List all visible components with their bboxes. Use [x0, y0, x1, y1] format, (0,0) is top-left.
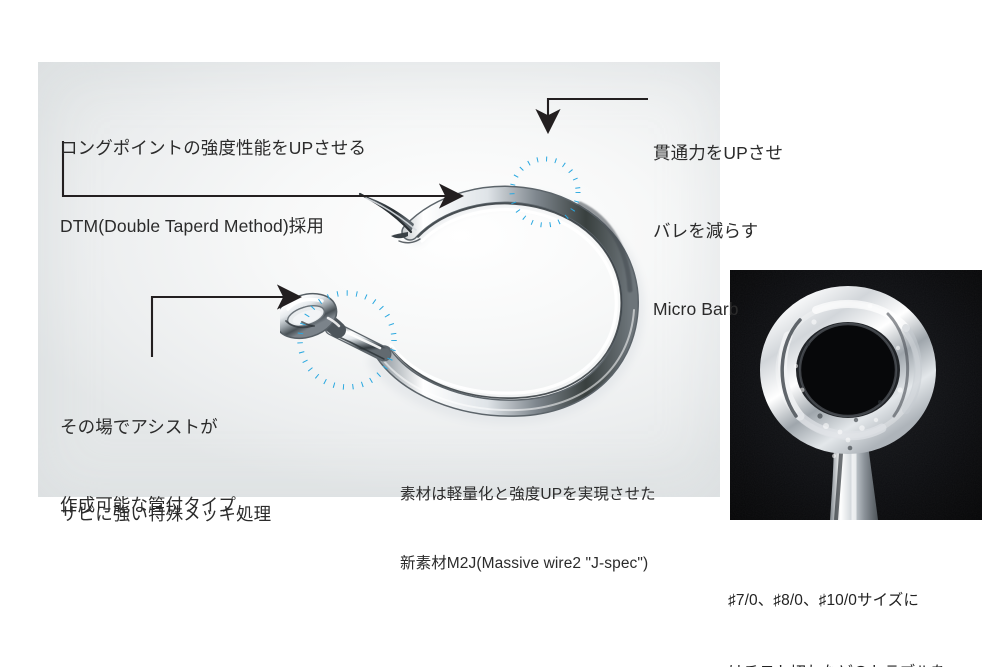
annotation-inset-caption: ♯7/0、♯8/0、♯10/0サイズに はチモト切れなどのトラブルを 防止するた…: [728, 541, 946, 667]
annotation-dtm-line1: ロングポイントの強度性能をUPさせる: [60, 135, 366, 161]
annotation-plating: サビに強い特殊メッキ処理: [60, 449, 271, 579]
annotation-micro-barb-line2: バレを減らす: [653, 218, 783, 244]
annotation-dtm: ロングポイントの強度性能をUPさせる DTM(Double Taperd Met…: [60, 83, 366, 291]
hook-bend: [380, 194, 634, 410]
annotation-material: 素材は軽量化と強度UPを実現させた 新素材M2J(Massive wire2 "…: [400, 437, 656, 621]
annotation-inset-caption-line1: ♯7/0、♯8/0、♯10/0サイズに: [728, 589, 946, 613]
annotation-dtm-line2: DTM(Double Taperd Method)採用: [60, 213, 366, 239]
annotation-micro-barb-line3: Micro Barb: [653, 296, 783, 322]
annotation-plating-line1: サビに強い特殊メッキ処理: [60, 501, 271, 527]
product-feature-diagram: ロングポイントの強度性能をUPさせる DTM(Double Taperd Met…: [0, 0, 1000, 667]
annotation-inset-caption-line2: はチモト切れなどのトラブルを: [728, 661, 946, 667]
annotation-micro-barb-line1: 貫通力をUPさせ: [653, 140, 783, 166]
annotation-material-line2: 新素材M2J(Massive wire2 "J-spec"): [400, 552, 656, 575]
annotation-assist-line1: その場でアシストが: [60, 414, 236, 440]
annotation-micro-barb: 貫通力をUPさせ バレを減らす Micro Barb: [653, 88, 783, 374]
annotation-material-line1: 素材は軽量化と強度UPを実現させた: [400, 483, 656, 506]
hook-ringed-eye: [280, 294, 339, 337]
